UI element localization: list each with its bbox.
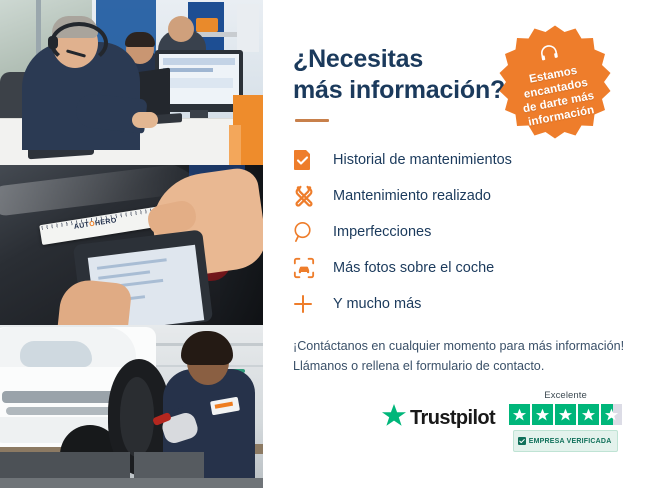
car-inspection-ruler-photo: AUTOHERO xyxy=(0,165,263,325)
document-check-icon xyxy=(293,148,323,172)
feature-item-mantenimiento: Mantenimiento realizado xyxy=(293,180,650,212)
feature-item-historial: Historial de mantenimientos xyxy=(293,144,650,176)
contact-text: ¡Contáctanos en cualquier momento para m… xyxy=(293,336,650,377)
call-center-agents-photo xyxy=(0,0,263,165)
magnifier-icon xyxy=(293,220,323,244)
feature-item-imperfecciones: Imperfecciones xyxy=(293,216,650,248)
feature-item-fotos: Más fotos sobre el coche xyxy=(293,252,650,284)
mechanic-wheel-photo xyxy=(0,325,263,488)
star-2-filled xyxy=(532,404,553,425)
trustpilot-star-icon xyxy=(382,404,406,432)
star-1-filled xyxy=(509,404,530,425)
feature-item-mucho-mas: Y mucho más xyxy=(293,288,650,320)
verified-company-badge: EMPRESA VERIFICADA xyxy=(513,430,619,452)
rating-label: Excelente xyxy=(544,390,587,401)
promo-badge: Estamos encantados de darte más informac… xyxy=(494,23,616,145)
plus-icon xyxy=(293,292,323,316)
star-5-half xyxy=(601,404,622,425)
headset-icon xyxy=(538,43,562,68)
feature-label: Y mucho más xyxy=(333,296,421,312)
star-3-filled xyxy=(555,404,576,425)
feature-label: Historial de mantenimientos xyxy=(333,152,512,168)
verified-label: EMPRESA VERIFICADA xyxy=(529,438,612,445)
car-scan-icon xyxy=(293,256,323,280)
star-4-filled xyxy=(578,404,599,425)
trustpilot-logo: Trustpilot xyxy=(382,404,495,432)
wrench-screwdriver-icon xyxy=(293,184,323,208)
title-divider xyxy=(295,119,329,122)
star-rating xyxy=(509,404,622,425)
feature-label: Mantenimiento realizado xyxy=(333,188,491,204)
check-box-icon xyxy=(518,432,526,450)
feature-label: Imperfecciones xyxy=(333,224,431,240)
trustpilot-widget[interactable]: Trustpilot Excelente xyxy=(382,390,622,452)
info-banner: AUTOHERO ¿Necesitas m xyxy=(0,0,650,488)
feature-list: Historial de mantenimientos Mantenimient… xyxy=(293,144,650,320)
feature-label: Más fotos sobre el coche xyxy=(333,260,494,276)
trustpilot-wordmark: Trustpilot xyxy=(410,407,495,430)
photo-collage: AUTOHERO xyxy=(0,0,263,488)
